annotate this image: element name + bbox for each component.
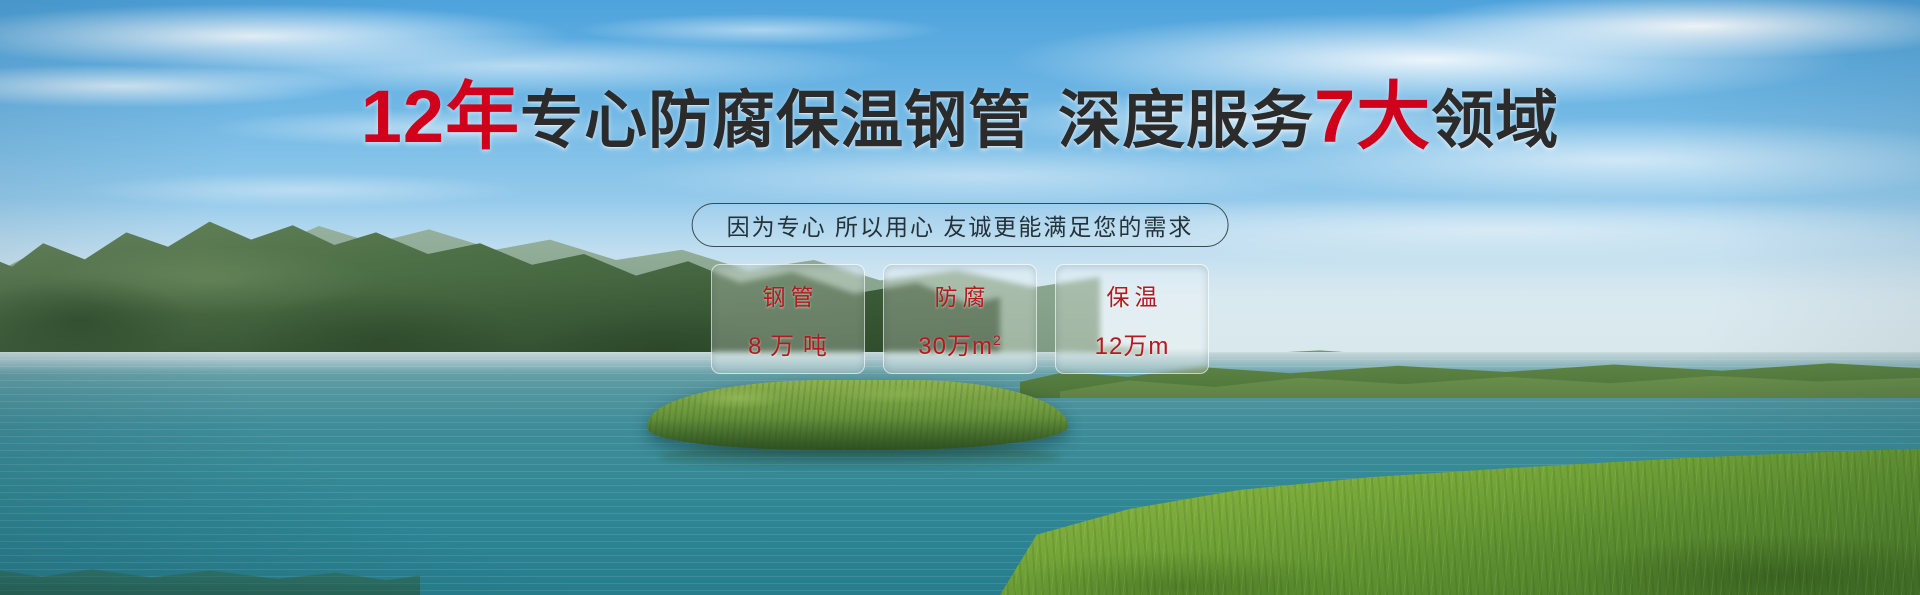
stat-value-superscript: 2: [993, 332, 1002, 348]
headline-service-text: 深度服务: [1058, 86, 1314, 156]
stat-value-text: 12万m: [1095, 333, 1170, 360]
headline-fields-highlight: 7大: [1314, 75, 1431, 158]
headline-years-highlight: 12年: [361, 75, 520, 158]
stat-value-text: 8 万 吨: [748, 333, 828, 360]
stat-card-insulation: 保温 12万m: [1055, 264, 1209, 374]
headline-main-text: 专心防腐保温钢管: [520, 86, 1032, 156]
banner-content: 12年专心防腐保温钢管深度服务7大领域 因为专心 所以用心 友诚更能满足您的需求…: [0, 0, 1920, 595]
stat-card-value: 12万m: [1095, 326, 1170, 361]
stat-card-title: 防腐: [930, 278, 991, 312]
stat-card-title: 保温: [1102, 278, 1163, 312]
stat-card-value: 8 万 吨: [748, 326, 828, 361]
stat-card-anticorrosion: 防腐 30万m2: [883, 264, 1037, 374]
stat-value-text: 30万m: [918, 333, 993, 360]
stat-card-steel-pipe: 钢管 8 万 吨: [711, 264, 865, 374]
hero-banner: 12年专心防腐保温钢管深度服务7大领域 因为专心 所以用心 友诚更能满足您的需求…: [0, 0, 1920, 595]
subtitle-text: 因为专心 所以用心 友诚更能满足您的需求: [727, 208, 1194, 242]
subtitle-pill: 因为专心 所以用心 友诚更能满足您的需求: [692, 203, 1229, 247]
headline-fields-text: 领域: [1431, 86, 1559, 156]
stat-card-value: 30万m2: [918, 326, 1001, 361]
stat-card-group: 钢管 8 万 吨 防腐 30万m2 保温 12万m: [711, 264, 1209, 374]
headline: 12年专心防腐保温钢管深度服务7大领域: [0, 84, 1920, 154]
stat-card-title: 钢管: [758, 278, 819, 312]
